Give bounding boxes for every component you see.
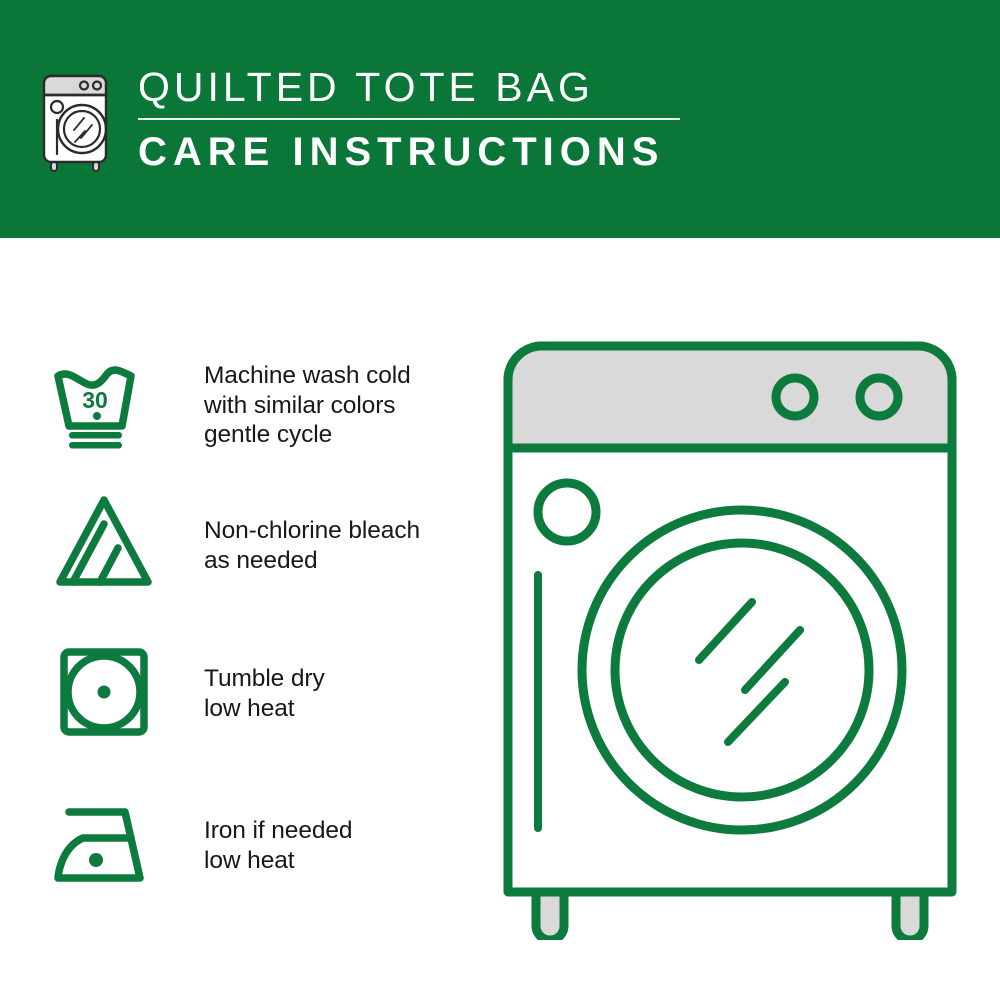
washing-machine-illustration [490,330,970,940]
care-item-bleach: Non-chlorine bleach as needed [52,490,420,594]
care-item-label: Tumble dry low heat [204,664,325,723]
wash-temperature-label: 30 [82,387,108,413]
care-item-iron: Iron if needed low heat [52,788,352,892]
care-item-label: Machine wash cold with similar colors ge… [204,361,411,450]
care-item-tumble-dry: Tumble dry low heat [52,638,325,742]
header-band: QUILTED TOTE BAG CARE INSTRUCTIONS [0,0,1000,238]
tumble-dry-low-heat-icon [52,638,156,742]
care-item-label: Non-chlorine bleach as needed [204,516,420,575]
title-divider [138,118,680,120]
care-item-label: Iron if needed low heat [204,816,352,875]
machine-leg-left [536,892,564,940]
care-instructions-infographic: QUILTED TOTE BAG CARE INSTRUCTIONS 30 [0,0,1000,1000]
machine-leg-right [896,892,924,940]
page-title-care: CARE INSTRUCTIONS [138,128,680,176]
header-title-group: QUILTED TOTE BAG CARE INSTRUCTIONS [138,62,680,176]
wash-tub-30-gentle-icon: 30 [52,346,156,450]
care-instruction-list: 30 Machine wash cold with similar colors… [0,238,480,1000]
care-item-machine-wash: 30 Machine wash cold with similar colors… [52,346,411,450]
non-chlorine-bleach-triangle-icon [52,490,156,594]
washing-machine-logo-icon [40,68,114,172]
header-content: QUILTED TOTE BAG CARE INSTRUCTIONS [40,62,680,176]
iron-low-heat-icon [52,788,156,892]
page-title-product: QUILTED TOTE BAG [138,62,680,112]
